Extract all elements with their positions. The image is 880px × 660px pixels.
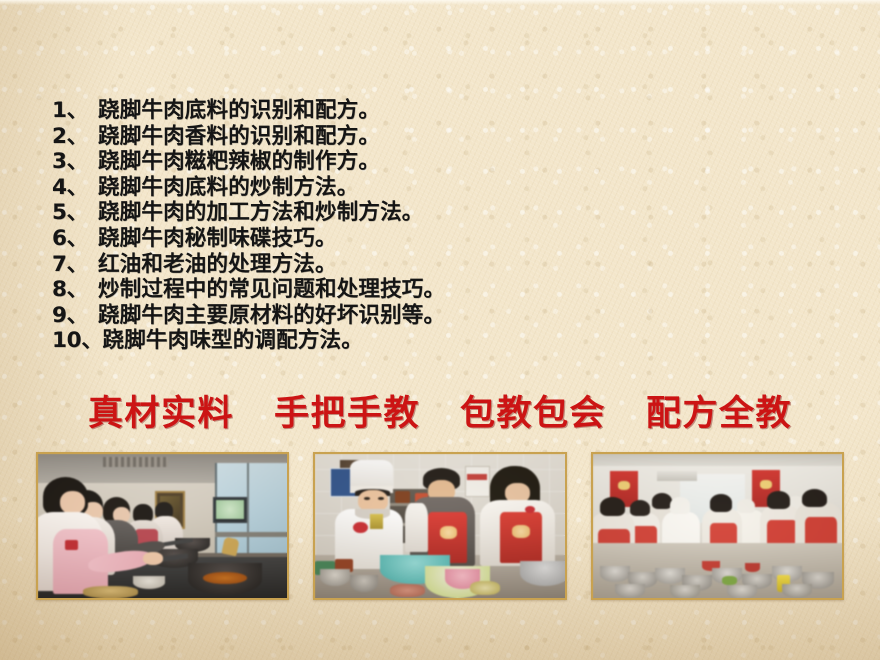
photo-canvas xyxy=(593,454,842,598)
outline-item: 2、 跷脚牛肉香料的识别和配方。 xyxy=(52,124,842,150)
outline-item-index: 5、 xyxy=(52,200,98,226)
outline-item-text: 炒制过程中的常见问题和处理技巧。 xyxy=(98,277,445,303)
course-outline-list: 1、 跷脚牛肉底料的识别和配方。 2、 跷脚牛肉香料的识别和配方。 3、 跷脚牛… xyxy=(52,98,842,354)
training-photo-classroom xyxy=(591,452,844,600)
outline-item-text: 跷脚牛肉糍粑辣椒的制作方。 xyxy=(98,149,380,175)
outline-item: 6、 跷脚牛肉秘制味碟技巧。 xyxy=(52,226,842,252)
outline-item-index: 9、 xyxy=(52,303,98,329)
outline-item: 10、 跷脚牛肉味型的调配方法。 xyxy=(52,328,842,354)
slogan-phrase: 真材实料 xyxy=(88,393,234,435)
slogan-phrase: 手把手教 xyxy=(274,393,420,435)
outline-item-text: 跷脚牛肉秘制味碟技巧。 xyxy=(98,226,337,252)
outline-item: 9、 跷脚牛肉主要原材料的好坏识别等。 xyxy=(52,303,842,329)
top-edge-highlight xyxy=(0,0,880,5)
outline-item: 5、 跷脚牛肉的加工方法和炒制方法。 xyxy=(52,200,842,226)
outline-item: 7、 红油和老油的处理方法。 xyxy=(52,252,842,278)
outline-item-index: 8、 xyxy=(52,277,98,303)
outline-item: 4、 跷脚牛肉底料的炒制方法。 xyxy=(52,175,842,201)
outline-item-index: 2、 xyxy=(52,124,98,150)
slogan-phrase: 配方全教 xyxy=(646,393,792,435)
outline-item-text: 跷脚牛肉底料的炒制方法。 xyxy=(98,175,358,201)
outline-item-text: 跷脚牛肉味型的调配方法。 xyxy=(103,328,363,354)
outline-item-text: 跷脚牛肉底料的识别和配方。 xyxy=(98,98,380,124)
outline-item-text: 红油和老油的处理方法。 xyxy=(98,252,337,278)
outline-item-text: 跷脚牛肉的加工方法和炒制方法。 xyxy=(98,200,424,226)
outline-item: 3、 跷脚牛肉糍粑辣椒的制作方。 xyxy=(52,149,842,175)
outline-item-index: 7、 xyxy=(52,252,98,278)
slogan-phrase: 包教包会 xyxy=(460,393,606,435)
photo-canvas xyxy=(315,454,564,598)
outline-item-index: 3、 xyxy=(52,149,98,175)
outline-item-text: 跷脚牛肉主要原材料的好坏识别等。 xyxy=(98,303,445,329)
outline-item: 8、 炒制过程中的常见问题和处理技巧。 xyxy=(52,277,842,303)
outline-item: 1、 跷脚牛肉底料的识别和配方。 xyxy=(52,98,842,124)
outline-item-text: 跷脚牛肉香料的识别和配方。 xyxy=(98,124,380,150)
outline-item-index: 1、 xyxy=(52,98,98,124)
training-course-slide: 1、 跷脚牛肉底料的识别和配方。 2、 跷脚牛肉香料的识别和配方。 3、 跷脚牛… xyxy=(0,0,880,660)
slogan-row: 真材实料 手把手教 包教包会 配方全教 xyxy=(0,393,880,435)
outline-item-index: 10、 xyxy=(52,328,103,354)
outline-item-index: 4、 xyxy=(52,175,98,201)
photo-strip xyxy=(36,452,844,600)
training-photo-chef-demo xyxy=(313,452,566,600)
training-photo-wok-line xyxy=(36,452,289,600)
photo-canvas xyxy=(38,454,287,598)
outline-item-index: 6、 xyxy=(52,226,98,252)
